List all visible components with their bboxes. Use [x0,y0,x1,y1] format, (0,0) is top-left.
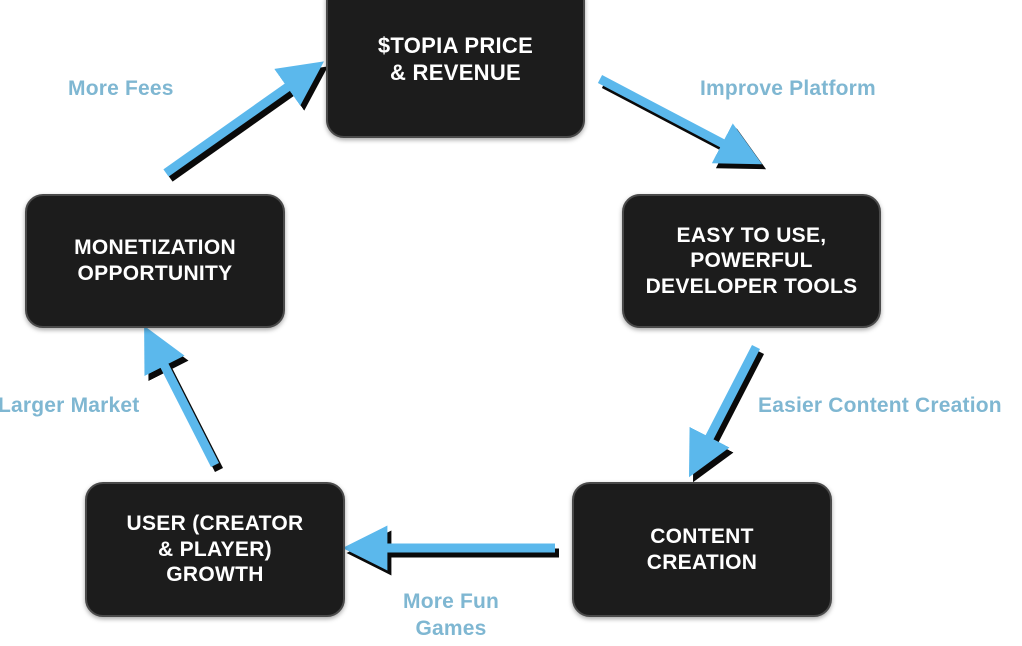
edge-label-more-fun-games: More Fun Games [403,589,499,643]
node-topia-price-and-revenue[interactable]: $TOPIA PRICE & REVENUE [326,0,585,138]
node-label: EASY TO USE, POWERFUL DEVELOPER TOOLS [646,223,858,300]
node-label: MONETIZATION OPPORTUNITY [74,235,236,286]
node-content-creation[interactable]: CONTENT CREATION [572,482,832,617]
node-user-growth[interactable]: USER (CREATOR & PLAYER) GROWTH [85,482,345,617]
edge-label-larger-market: Larger Market [0,393,140,420]
edge-label-easier-content-creation: Easier Content Creation [758,393,1002,420]
node-monetization-opportunity[interactable]: MONETIZATION OPPORTUNITY [25,194,285,328]
node-label: USER (CREATOR & PLAYER) GROWTH [127,511,304,588]
node-label: $TOPIA PRICE & REVENUE [378,33,533,87]
node-label: CONTENT CREATION [647,524,758,575]
arrow-monetization-to-price [166,79,303,178]
edge-label-more-fees: More Fees [68,76,174,103]
edge-label-improve-platform: Improve Platform [700,76,876,103]
arrow-content-to-user [373,548,559,553]
flywheel-diagram: $TOPIA PRICE & REVENUE EASY TO USE, POWE… [0,0,1022,646]
arrow-user-to-monetization [158,353,219,470]
arrow-tools-to-content [703,347,760,455]
node-developer-tools[interactable]: EASY TO USE, POWERFUL DEVELOPER TOOLS [622,194,881,328]
